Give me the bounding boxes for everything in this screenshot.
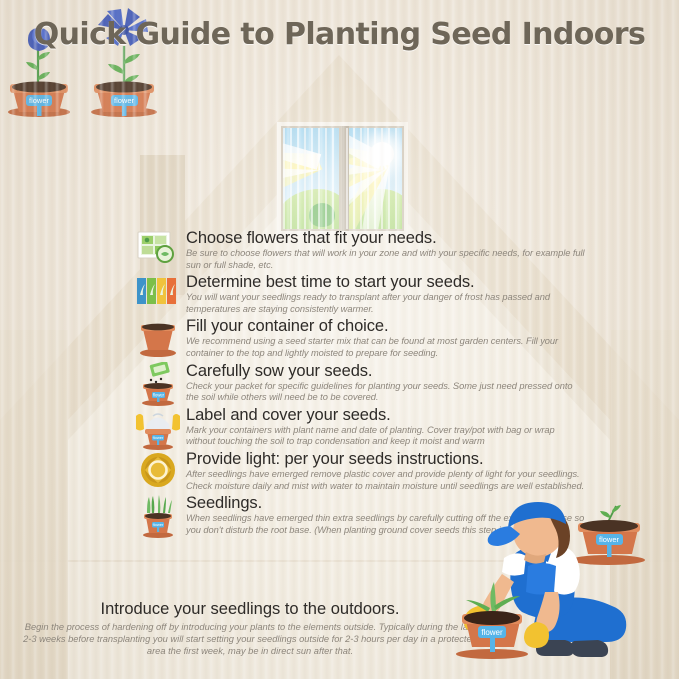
step-heading: Fill your container of choice. [186, 317, 586, 336]
footer-body: Begin the process of hardening off by in… [20, 621, 480, 658]
covered-pot-gloves-icon: flower [134, 406, 182, 450]
step-body: We recommend using a seed starter mix th… [186, 336, 586, 359]
step-heading: Choose flowers that fit your needs. [186, 229, 586, 248]
step-body: You will want your seedlings ready to tr… [186, 292, 586, 315]
window-pane-right [346, 128, 402, 229]
step-item: Fill your container of choice. We recomm… [134, 317, 586, 359]
page-title: Quick Guide to Planting Seed Indoors [0, 17, 679, 52]
steps-list: Choose flowers that fit your needs. Be s… [134, 229, 586, 538]
light-ring-icon [134, 450, 182, 494]
pot-tag-text: flower [153, 522, 164, 527]
step-item: flower Label and cover your seeds. Mark … [134, 406, 586, 448]
window-blind-left [283, 128, 339, 229]
step-heading: Determine best time to start your seeds. [186, 273, 586, 292]
pot-tag-text: flower [599, 535, 620, 544]
footer-heading: Introduce your seedlings to the outdoors… [20, 600, 480, 619]
step-heading: Label and cover your seeds. [186, 406, 586, 425]
step-body: Be sure to choose flowers that will work… [186, 248, 586, 271]
step-heading: Carefully sow your seeds. [186, 362, 586, 381]
step-body: Check your packet for specific guideline… [186, 381, 586, 404]
seed-catalog-icon [134, 229, 182, 273]
footer-block: Introduce your seedlings to the outdoors… [20, 600, 480, 658]
pot-tag-text: flower [153, 392, 165, 397]
step-body: Mark your containers with plant name and… [186, 425, 586, 448]
seed-packets-icon [134, 273, 182, 317]
sowing-seeds-icon: flower [134, 362, 182, 406]
step-item: Determine best time to start your seeds.… [134, 273, 586, 315]
sunny-window [277, 122, 408, 235]
infographic-poster: Quick Guide to Planting Seed Indoors Cho… [0, 0, 679, 679]
step-heading: Provide light: per your seeds instructio… [186, 450, 586, 469]
window-pane-left [283, 128, 339, 229]
pot-tag-text: flower [153, 435, 164, 440]
step-item: flower Carefully sow your seeds. Check y… [134, 362, 586, 404]
empty-pot-icon [134, 317, 182, 361]
pot-tag-text: flower [481, 628, 503, 637]
gardener-illustration: flower [430, 494, 679, 679]
step-item: Provide light: per your seeds instructio… [134, 450, 586, 492]
background-pot: flower [571, 505, 645, 565]
window-blind-right [346, 128, 402, 229]
step-item: Choose flowers that fit your needs. Be s… [134, 229, 586, 271]
step-body: After seedlings have emerged remove plas… [186, 469, 586, 492]
seedlings-pot-icon: flower [134, 494, 182, 538]
